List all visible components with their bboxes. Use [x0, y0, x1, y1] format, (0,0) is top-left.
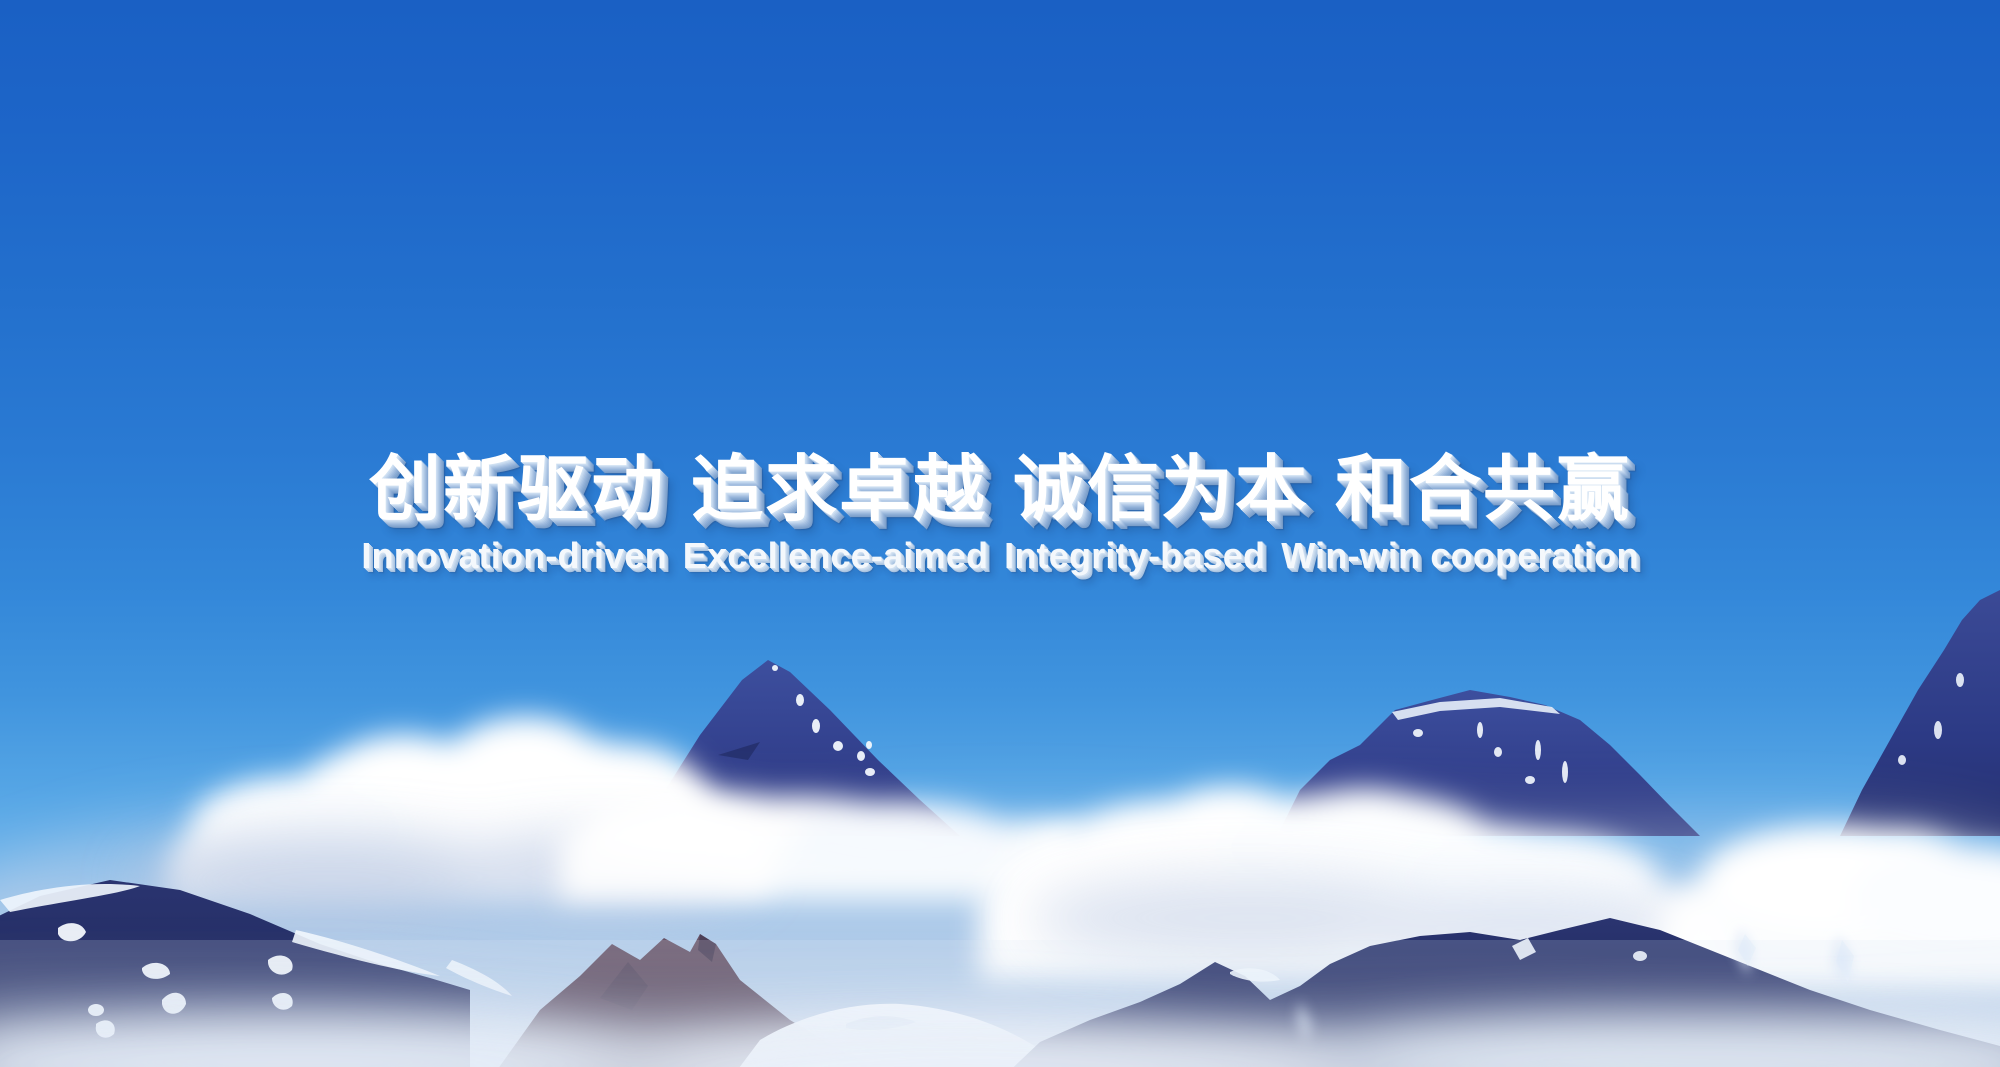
- mountain-cloud-scene: [0, 0, 2000, 1067]
- hero-banner: 创新驱动追求卓越诚信为本和合共赢 Innovation-drivenExcell…: [0, 0, 2000, 1067]
- mountain-far-right-peak: [1840, 590, 2000, 836]
- atmospheric-haze: [0, 940, 2000, 1067]
